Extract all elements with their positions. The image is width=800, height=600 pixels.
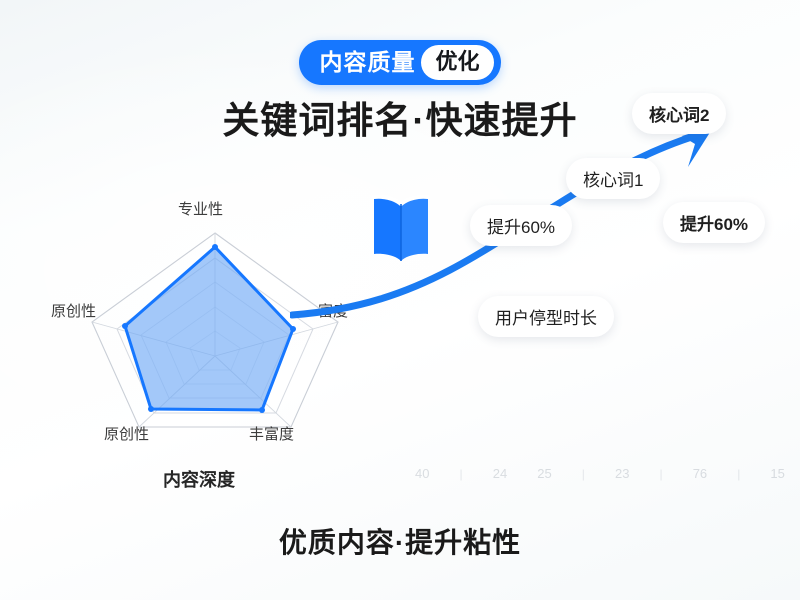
tick-value: 25 — [537, 466, 551, 481]
axis-tick-row: 40 | 24 25 | 23 | 76 | 15 — [415, 466, 785, 481]
callout-uplift-right[interactable]: 提升60% — [663, 202, 765, 243]
tick-mark: | — [737, 467, 740, 481]
tick-value: 23 — [615, 466, 629, 481]
badge-chip-label: 优化 — [421, 45, 493, 80]
badge-main-label: 内容质量 — [319, 51, 415, 74]
slide-canvas: 内容质量 优化 关键词排名·快速提升 专业性 富度 丰富 — [0, 0, 800, 600]
tick-mark: | — [460, 467, 463, 481]
footer-title: 优质内容·提升粘性 — [0, 521, 800, 561]
callout-keyword-1[interactable]: 核心词1 — [566, 158, 660, 199]
tick-value: 15 — [770, 466, 784, 481]
radar-axis-label-bottom-left: 原创性 — [104, 423, 149, 444]
radar-axis-label-bottom-right: 丰富度 — [249, 423, 294, 444]
callout-keyword-2[interactable]: 核心词2 — [632, 93, 726, 134]
tick-value: 40 — [415, 466, 429, 481]
tick-mark: | — [660, 467, 663, 481]
content-depth-label: 内容深度 — [163, 466, 235, 492]
tick-value: 76 — [693, 466, 707, 481]
radar-axis-label-top: 专业性 — [178, 198, 223, 219]
callout-dwell-time[interactable]: 用户停型时长 — [478, 296, 614, 337]
content-quality-badge[interactable]: 内容质量 优化 — [299, 40, 500, 85]
badge-container: 内容质量 优化 — [0, 40, 800, 85]
tick-value: 24 — [493, 466, 507, 481]
callout-uplift-left[interactable]: 提升60% — [470, 205, 572, 246]
tick-mark: | — [582, 467, 585, 481]
radar-axis-label-left: 原创性 — [51, 300, 96, 321]
